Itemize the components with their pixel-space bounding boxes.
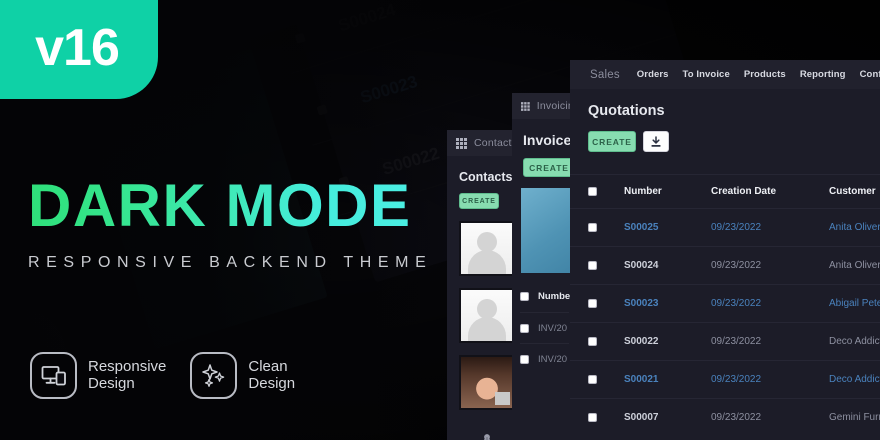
select-all-checkbox[interactable] (588, 187, 597, 196)
contact-card[interactable] (459, 422, 515, 440)
column-header-creation-date[interactable]: Creation Date (711, 186, 829, 197)
cell-creation-date: 09/23/2022 (711, 412, 829, 423)
invoicing-page-title: Invoices (523, 132, 569, 148)
import-icon (650, 136, 662, 148)
contacts-create-button[interactable]: CREATE (459, 193, 499, 209)
select-all-checkbox[interactable] (520, 292, 529, 301)
sales-navbar: Sales Orders To Invoice Products Reporti… (570, 60, 880, 89)
import-button[interactable] (643, 131, 669, 152)
feature-label-line2: Design (88, 376, 166, 393)
contact-card[interactable] (459, 355, 515, 410)
version-badge-label: v16 (35, 22, 119, 74)
table-row[interactable]: S00007 09/23/2022 Gemini Furniture (570, 398, 880, 436)
cell-creation-date: 09/23/2022 (711, 260, 829, 271)
column-header-number[interactable]: Number (624, 186, 711, 197)
apps-grid-icon[interactable] (456, 138, 467, 149)
invoice-number: INV/20 (538, 323, 567, 334)
cell-creation-date: 09/23/2022 (711, 336, 829, 347)
nav-item-to-invoice[interactable]: To Invoice (683, 69, 730, 80)
feature-label-line2: Design (248, 376, 295, 393)
feature-label: Responsive Design (88, 359, 166, 393)
nav-item-reporting[interactable]: Reporting (800, 69, 846, 80)
sales-nav-items: Orders To Invoice Products Reporting Con… (637, 69, 880, 80)
hero-text-block: DARK MODE RESPONSIVE BACKEND THEME (28, 176, 432, 272)
sales-app-name[interactable]: Sales (590, 69, 620, 81)
invoice-number: INV/20 (538, 354, 567, 365)
page-subtitle: RESPONSIVE BACKEND THEME (28, 254, 432, 272)
nav-item-products[interactable]: Products (744, 69, 786, 80)
responsive-devices-icon (30, 352, 77, 399)
promo-banner: Quotations CREATE Invoices Contacts Crea… (0, 0, 880, 440)
column-header-customer[interactable]: Customer (829, 186, 880, 197)
cell-customer: Deco Addict (829, 336, 880, 347)
cell-number[interactable]: S00007 (624, 412, 711, 423)
avatar-photo (461, 357, 513, 408)
invoicing-create-button[interactable]: CREATE (523, 158, 575, 177)
table-row[interactable]: INV/20 (520, 312, 569, 343)
panel-sales: Sales Orders To Invoice Products Reporti… (570, 60, 880, 440)
cell-customer: Deco Addict (829, 374, 880, 385)
apps-grid-icon[interactable] (521, 101, 530, 112)
page-title: DARK MODE (28, 176, 432, 236)
version-badge: v16 (0, 0, 158, 99)
contact-card[interactable] (459, 288, 515, 343)
row-checkbox[interactable] (588, 261, 597, 270)
invoices-table: Number INV/20 INV/20 (520, 281, 569, 374)
table-header-row: Number Creation Date Customer (570, 174, 880, 208)
contact-card[interactable] (459, 221, 515, 276)
cell-customer: Anita Oliver (829, 260, 880, 271)
sales-create-button[interactable]: CREATE (588, 131, 636, 152)
feature-label-line1: Responsive (88, 359, 166, 376)
cell-creation-date: 09/23/2022 (711, 298, 829, 309)
table-row[interactable]: S00022 09/23/2022 Deco Addict (570, 322, 880, 360)
cell-number[interactable]: S00021 (624, 374, 711, 385)
avatar-placeholder-icon (461, 223, 513, 274)
feature-label: Clean Design (248, 359, 295, 393)
feature-label-line1: Clean (248, 359, 295, 376)
nav-item-configuration[interactable]: Configuration (860, 69, 880, 80)
cell-number[interactable]: S00025 (624, 222, 711, 233)
cell-creation-date: 09/23/2022 (711, 374, 829, 385)
avatar-placeholder-icon (461, 290, 513, 341)
contacts-app-name[interactable]: Contacts (474, 137, 517, 149)
cell-creation-date: 09/23/2022 (711, 222, 829, 233)
cell-number[interactable]: S00023 (624, 298, 711, 309)
feature-clean-design: Clean Design (190, 352, 295, 399)
quotations-table: Number Creation Date Customer S00025 09/… (570, 174, 880, 436)
table-row[interactable]: S00021 09/23/2022 Deco Addict (570, 360, 880, 398)
feature-responsive-design: Responsive Design (30, 352, 166, 399)
table-row[interactable]: S00024 09/23/2022 Anita Oliver (570, 246, 880, 284)
contacts-page-title: Contacts (459, 170, 515, 184)
table-row[interactable]: INV/20 (520, 343, 569, 374)
column-header-number[interactable]: Number (538, 291, 574, 302)
row-checkbox[interactable] (588, 375, 597, 384)
table-header-row: Number (520, 281, 569, 312)
cell-number[interactable]: S00022 (624, 336, 711, 347)
row-checkbox[interactable] (588, 299, 597, 308)
row-checkbox[interactable] (520, 355, 529, 364)
compass-logo-icon (474, 433, 500, 440)
nav-item-orders[interactable]: Orders (637, 69, 669, 80)
feature-badges: Responsive Design Clean Design (30, 352, 295, 399)
table-row[interactable]: S00023 09/23/2022 Abigail Peterson (570, 284, 880, 322)
cell-customer: Anita Oliver (829, 222, 880, 233)
cell-customer: Abigail Peterson (829, 298, 880, 309)
row-checkbox[interactable] (588, 413, 597, 422)
cell-customer: Gemini Furniture (829, 412, 880, 423)
row-checkbox[interactable] (588, 223, 597, 232)
row-checkbox[interactable] (520, 324, 529, 333)
table-row[interactable]: S00025 09/23/2022 Anita Oliver (570, 208, 880, 246)
quotations-page-title: Quotations (588, 103, 862, 119)
sparkles-icon (190, 352, 237, 399)
row-checkbox[interactable] (588, 337, 597, 346)
cell-number[interactable]: S00024 (624, 260, 711, 271)
